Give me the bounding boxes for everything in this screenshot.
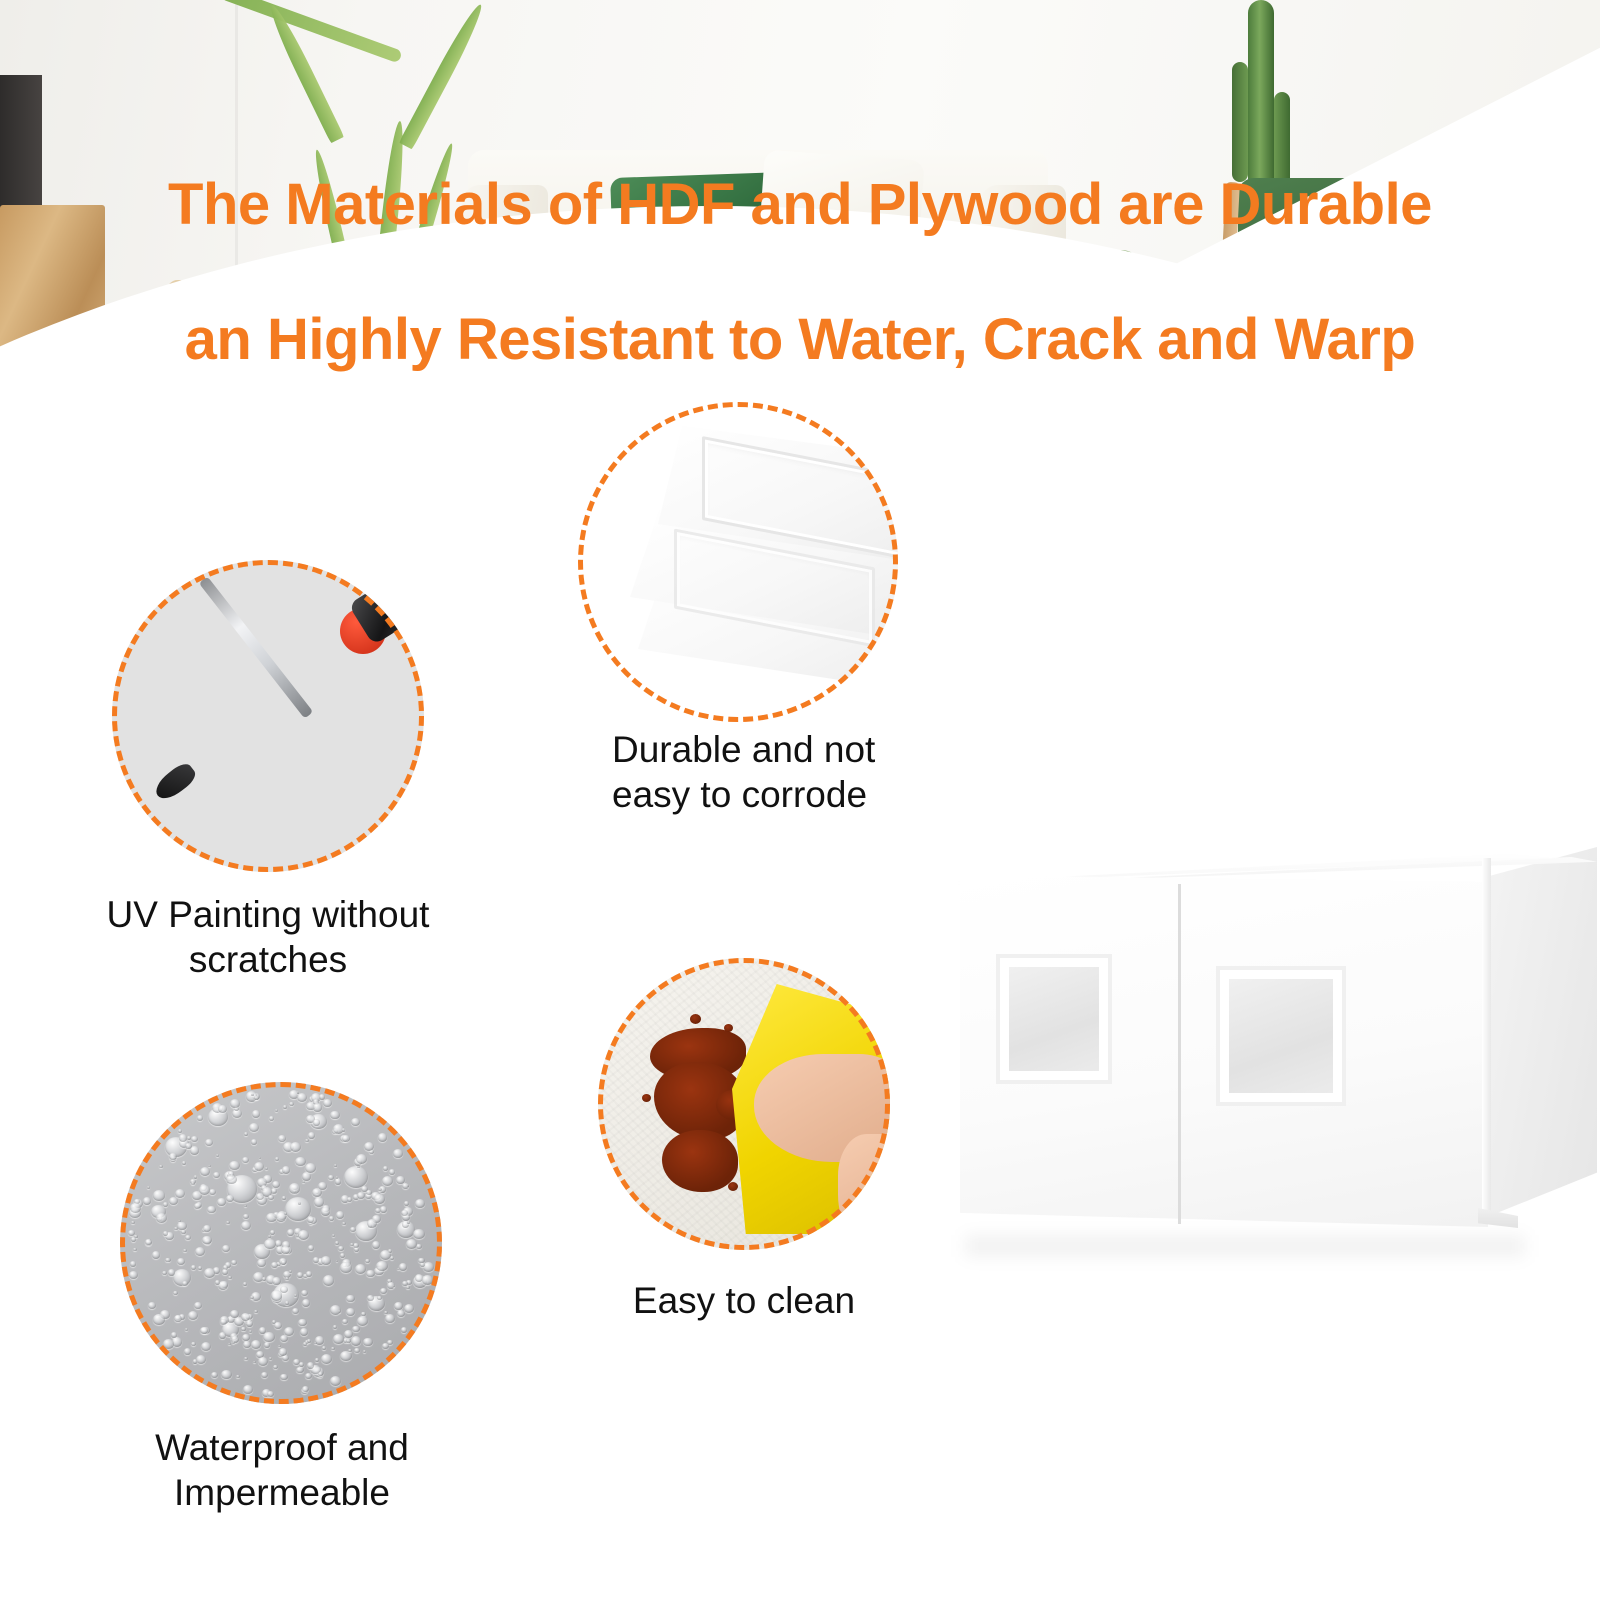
- door-glass-left: [1000, 958, 1108, 1080]
- dashed-ring: [578, 402, 898, 722]
- marketing-banner: The Materials of HDF and Plywood are Dur…: [0, 0, 1600, 1600]
- feature-caption-uv-painting: UV Painting without scratches: [62, 892, 474, 982]
- feature-caption-easy-clean: Easy to clean: [574, 1278, 914, 1323]
- headline-line-2: an Highly Resistant to Water, Crack and …: [0, 306, 1600, 373]
- page-title: The Materials of HDF and Plywood are Dur…: [0, 104, 1600, 440]
- dashed-ring: [598, 958, 890, 1250]
- feature-caption-waterproof: Waterproof and Impermeable: [72, 1425, 492, 1515]
- cabinet-side-panel: [1487, 847, 1597, 1217]
- product-shadow: [965, 1235, 1525, 1257]
- feature-caption-durable: Durable and not easy to corrode: [612, 727, 1032, 817]
- headline-line-1: The Materials of HDF and Plywood are Dur…: [0, 171, 1600, 238]
- dashed-ring: [120, 1082, 442, 1404]
- door-glass-right: [1220, 970, 1342, 1102]
- cabinet-front-edge: [1482, 858, 1491, 1218]
- dashed-ring: [112, 560, 424, 872]
- door-divider: [1178, 884, 1181, 1224]
